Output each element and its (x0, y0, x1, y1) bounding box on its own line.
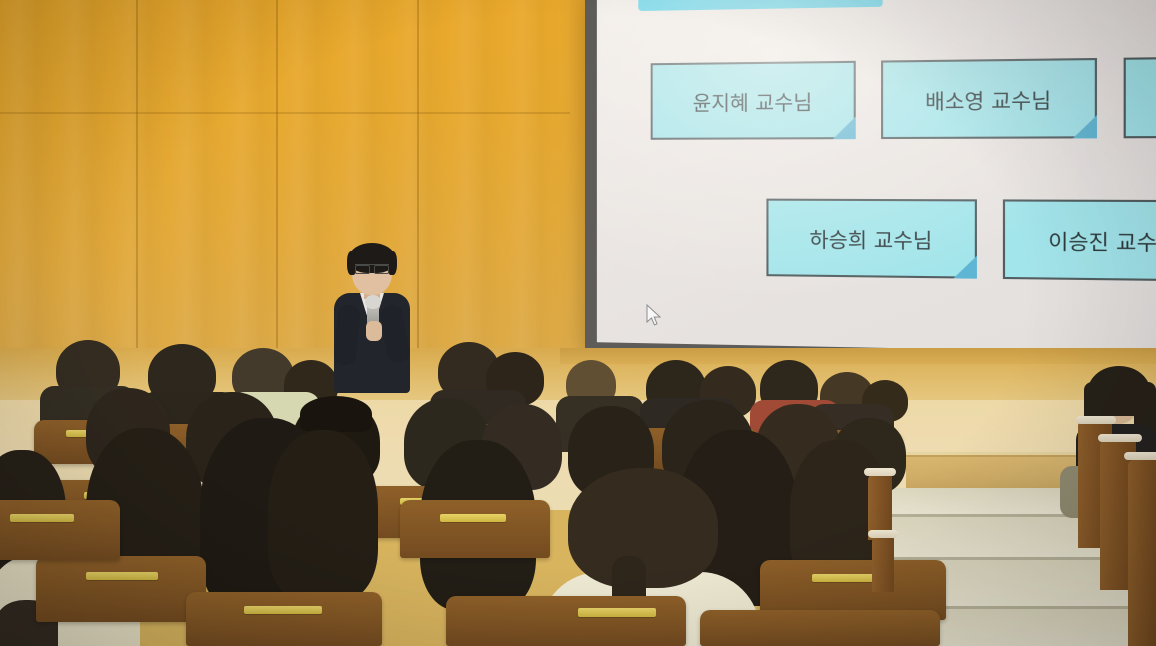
speaker-hand (366, 321, 382, 341)
seat-nameplate (244, 606, 322, 614)
seat-nameplate (578, 608, 656, 617)
auditorium-chair (700, 610, 940, 646)
page-fold-icon (1073, 115, 1097, 138)
chair-armrest-top (868, 530, 898, 538)
baseball-cap-icon (300, 396, 372, 432)
auditorium-chair (446, 596, 686, 646)
wall-trim-strip (560, 348, 1156, 364)
professor-card: 이승진 교수님 (1003, 199, 1156, 281)
page-fold-icon (833, 116, 856, 139)
auditorium-chair (400, 500, 550, 558)
mouse-cursor-icon (646, 304, 664, 328)
wall-seam-vertical (136, 0, 138, 372)
speaker-figure (322, 243, 422, 393)
page-fold-icon (953, 256, 977, 279)
wall-seam-horizontal (0, 112, 570, 114)
projection-screen-frame: 교수님 소개 언어병리학과 교수님 윤지혜 교수님 배소영 교수님 이 하승희 … (585, 0, 1156, 363)
microphone-head (365, 295, 381, 309)
auditorium-chair (186, 592, 382, 646)
seat-nameplate (86, 572, 158, 580)
seat-nameplate (10, 514, 74, 522)
professor-card: 윤지혜 교수님 (651, 61, 856, 140)
chair-end-panel (872, 536, 894, 592)
screen-glare (597, 0, 1156, 354)
chair-armrest-top (1124, 452, 1156, 460)
projection-screen: 교수님 소개 언어병리학과 교수님 윤지혜 교수님 배소영 교수님 이 하승희 … (597, 0, 1156, 354)
eyeglasses-icon (355, 264, 389, 271)
professor-card-cutoff: 이 (1124, 55, 1156, 138)
professor-card: 하승희 교수님 (766, 199, 977, 279)
seat-nameplate (440, 514, 506, 522)
chair-end-panel (1128, 460, 1156, 646)
audience-head (268, 430, 378, 600)
chair-armrest-top (1076, 416, 1116, 424)
auditorium-chair (0, 500, 120, 560)
wall-seam-vertical (276, 0, 278, 372)
professor-card-label: 이승진 교수님 (1048, 224, 1156, 256)
chair-armrest-top (864, 468, 896, 476)
professor-card-label: 하승희 교수님 (809, 223, 932, 254)
title-highlighter (644, 0, 884, 11)
professor-card: 배소영 교수님 (881, 58, 1097, 139)
professor-card-label: 배소영 교수님 (925, 83, 1051, 114)
chair-armrest-top (1098, 434, 1142, 442)
auditorium-chair (36, 556, 206, 622)
screenshot-root: 교수님 소개 언어병리학과 교수님 윤지혜 교수님 배소영 교수님 이 하승희 … (0, 0, 1156, 646)
wood-panel-wall-left (0, 0, 570, 372)
professor-card-label: 윤지혜 교수님 (693, 85, 813, 115)
